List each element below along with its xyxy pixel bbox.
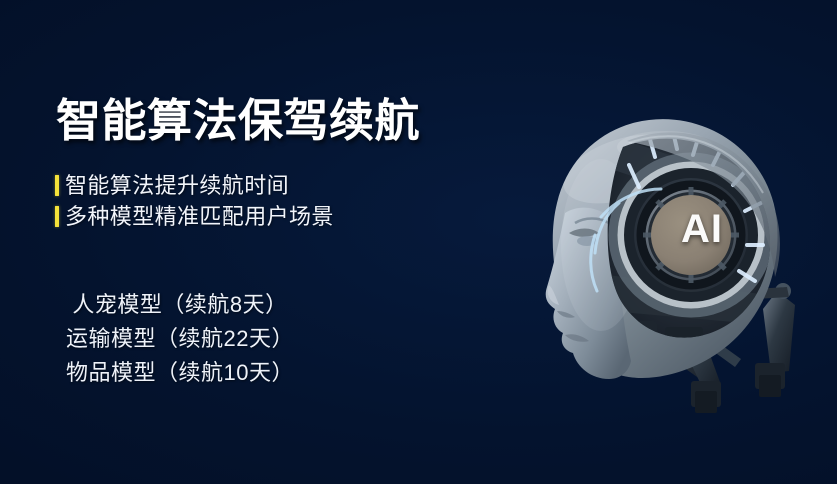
bullet-item: 智能算法提升续航时间 bbox=[55, 170, 455, 201]
bullet-item-label: 多种模型精准匹配用户场景 bbox=[65, 206, 334, 228]
bullet-item: 多种模型精准匹配用户场景 bbox=[55, 201, 455, 232]
list-item: 运输模型（续航22天） bbox=[30, 322, 330, 356]
slide-canvas: 智能算法保驾续航 智能算法提升续航时间 多种模型精准匹配用户场景 人宠模型（续航… bbox=[0, 0, 837, 484]
bullet-list: 智能算法提升续航时间 多种模型精准匹配用户场景 bbox=[55, 170, 455, 232]
robot-head-illustration bbox=[505, 95, 837, 435]
bullet-bar-icon bbox=[55, 175, 59, 196]
page-title: 智能算法保驾续航 bbox=[56, 97, 420, 146]
bullet-bar-icon bbox=[55, 206, 59, 227]
text-column: 智能算法保驾续航 智能算法提升续航时间 多种模型精准匹配用户场景 人宠模型（续航… bbox=[0, 0, 470, 484]
list-item: 物品模型（续航10天） bbox=[30, 356, 330, 390]
bullet-item-label: 智能算法提升续航时间 bbox=[65, 175, 289, 197]
list-item: 人宠模型（续航8天） bbox=[30, 288, 330, 322]
model-list: 人宠模型（续航8天） 运输模型（续航22天） 物品模型（续航10天） bbox=[30, 288, 330, 390]
